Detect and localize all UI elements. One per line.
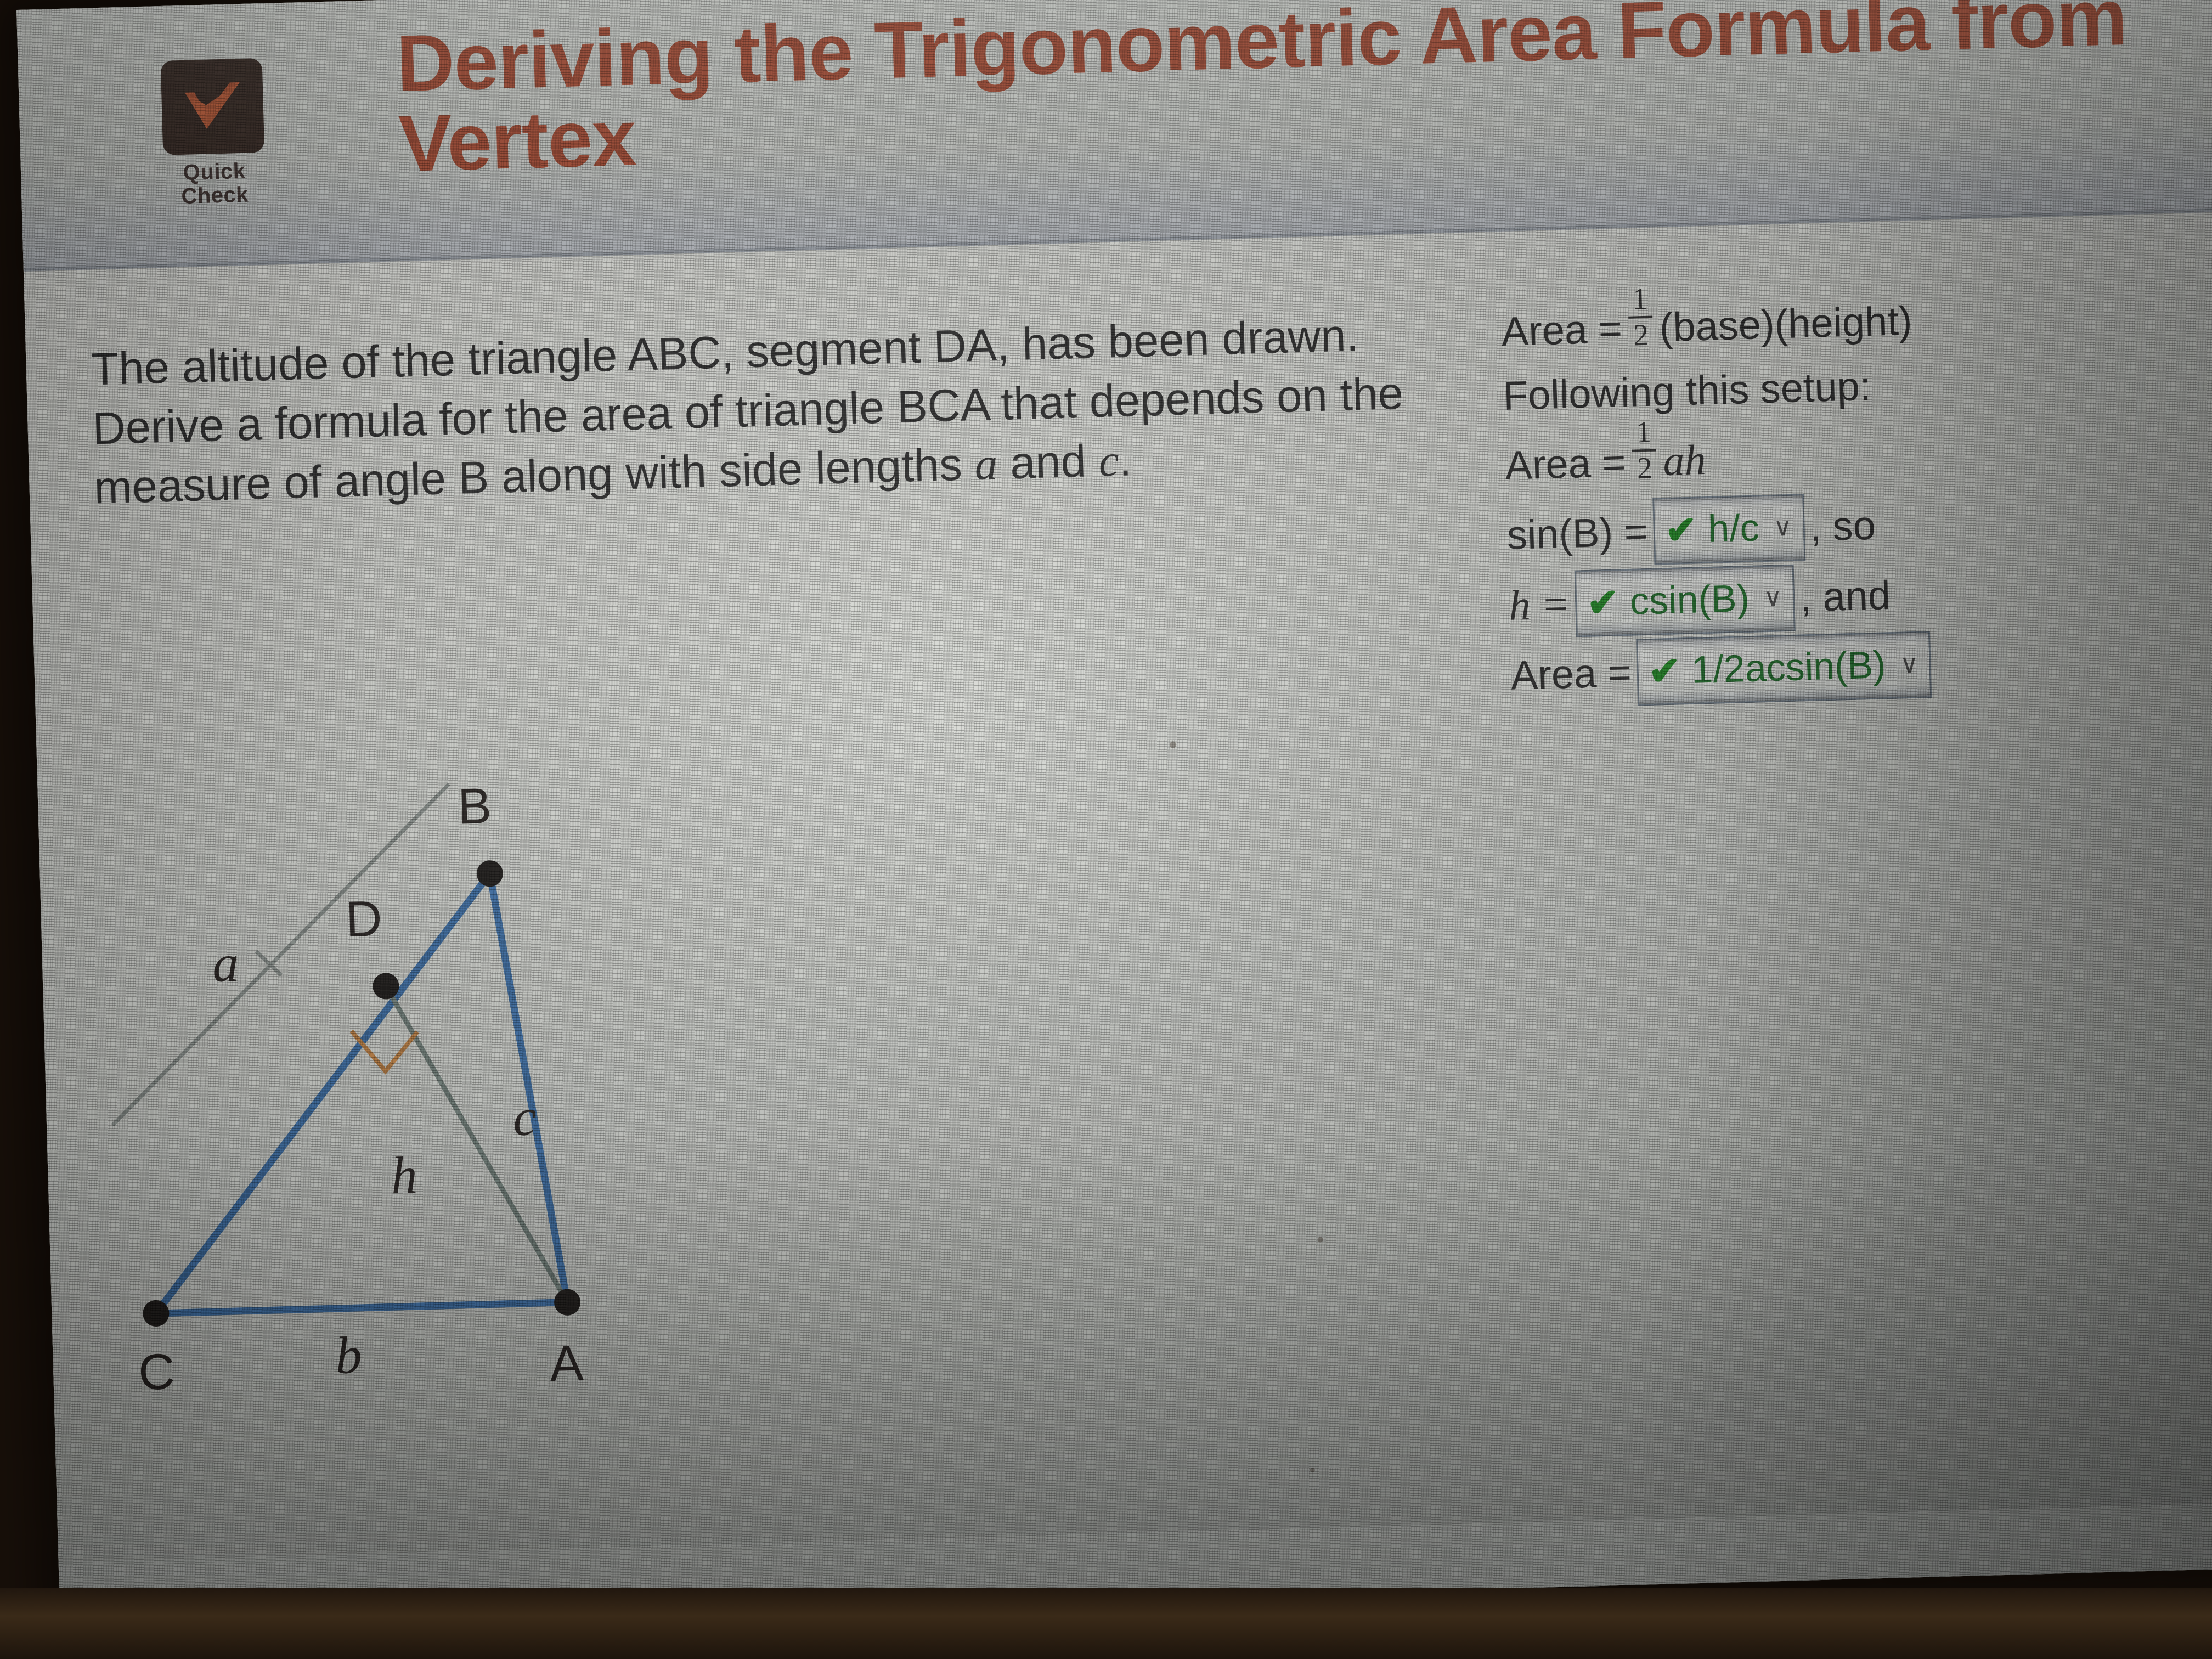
vertex-label-d: D bbox=[345, 890, 383, 949]
side-label-a: a bbox=[212, 933, 240, 994]
h-dropdown[interactable]: ✔ csin(B) ∨ bbox=[1575, 565, 1796, 637]
quick-check-badge: Quick Check bbox=[153, 58, 274, 209]
fraction-numerator: 1 bbox=[1635, 417, 1652, 450]
area-dropdown[interactable]: ✔ 1/2acsin(B) ∨ bbox=[1636, 631, 1932, 706]
one-half-fraction-1: 1 2 bbox=[1628, 284, 1654, 351]
photo-background: Quick Check Deriving the Trigonometric A… bbox=[0, 0, 2212, 1659]
page-title: Deriving the Trigonometric Area Formula … bbox=[396, 0, 2212, 184]
and-text: , and bbox=[1799, 568, 1891, 625]
problem-text: The altitude of the triangle ABC, segmen… bbox=[91, 309, 1404, 513]
vertex-label-a: A bbox=[549, 1335, 584, 1393]
page-body: The altitude of the triangle ABC, segmen… bbox=[24, 211, 2212, 1562]
fraction-denominator: 2 bbox=[1633, 318, 1649, 351]
check-badge-icon bbox=[161, 58, 265, 155]
check-icon: ✔ bbox=[1648, 655, 1681, 687]
quick-check-label-line2: Check bbox=[156, 182, 274, 209]
area-label-1: Area = bbox=[1501, 301, 1623, 359]
chevron-down-icon: ∨ bbox=[1773, 510, 1792, 545]
chevron-down-icon: ∨ bbox=[1899, 647, 1918, 681]
side-label-c: c bbox=[512, 1086, 537, 1148]
problem-text-mid: and bbox=[997, 435, 1099, 489]
ah-expression: ah bbox=[1662, 431, 1707, 490]
geometry-figure: B D C A a b c h bbox=[65, 546, 1242, 1510]
sin-b-label: sin(B) = bbox=[1506, 504, 1649, 562]
check-icon: ✔ bbox=[1664, 515, 1697, 546]
fraction-denominator: 2 bbox=[1637, 452, 1653, 484]
sin-b-dropdown-value: h/c bbox=[1707, 503, 1760, 555]
monitor-screen: Quick Check Deriving the Trigonometric A… bbox=[16, 0, 2212, 1628]
side-label-b: b bbox=[335, 1324, 363, 1386]
base-height-text: (base)(height) bbox=[1659, 294, 1913, 355]
height-label-h: h bbox=[390, 1144, 418, 1206]
vertex-label-c: C bbox=[138, 1343, 176, 1402]
h-label: h = bbox=[1508, 575, 1571, 634]
one-half-fraction-2: 1 2 bbox=[1631, 417, 1657, 484]
problem-var-a: a bbox=[974, 438, 998, 489]
derivation-panel: Area = 1 2 (base)(height) Following this… bbox=[1500, 279, 2212, 712]
area-label-2: Area = bbox=[1504, 435, 1627, 493]
area-dropdown-value: 1/2acsin(B) bbox=[1691, 639, 1886, 696]
problem-var-c: c bbox=[1098, 435, 1119, 486]
chevron-down-icon: ∨ bbox=[1763, 580, 1782, 615]
check-icon: ✔ bbox=[1587, 586, 1620, 618]
h-dropdown-value: csin(B) bbox=[1629, 573, 1750, 628]
sin-b-dropdown[interactable]: ✔ h/c ∨ bbox=[1652, 494, 1805, 565]
quick-check-label-line1: Quick bbox=[155, 159, 274, 185]
area-label-3: Area = bbox=[1510, 645, 1632, 703]
vertex-label-b: B bbox=[457, 777, 492, 836]
problem-text-end: . bbox=[1118, 434, 1132, 486]
fraction-numerator: 1 bbox=[1632, 284, 1649, 317]
so-text: , so bbox=[1809, 498, 1876, 554]
problem-statement: The altitude of the triangle ABC, segmen… bbox=[90, 303, 1455, 518]
